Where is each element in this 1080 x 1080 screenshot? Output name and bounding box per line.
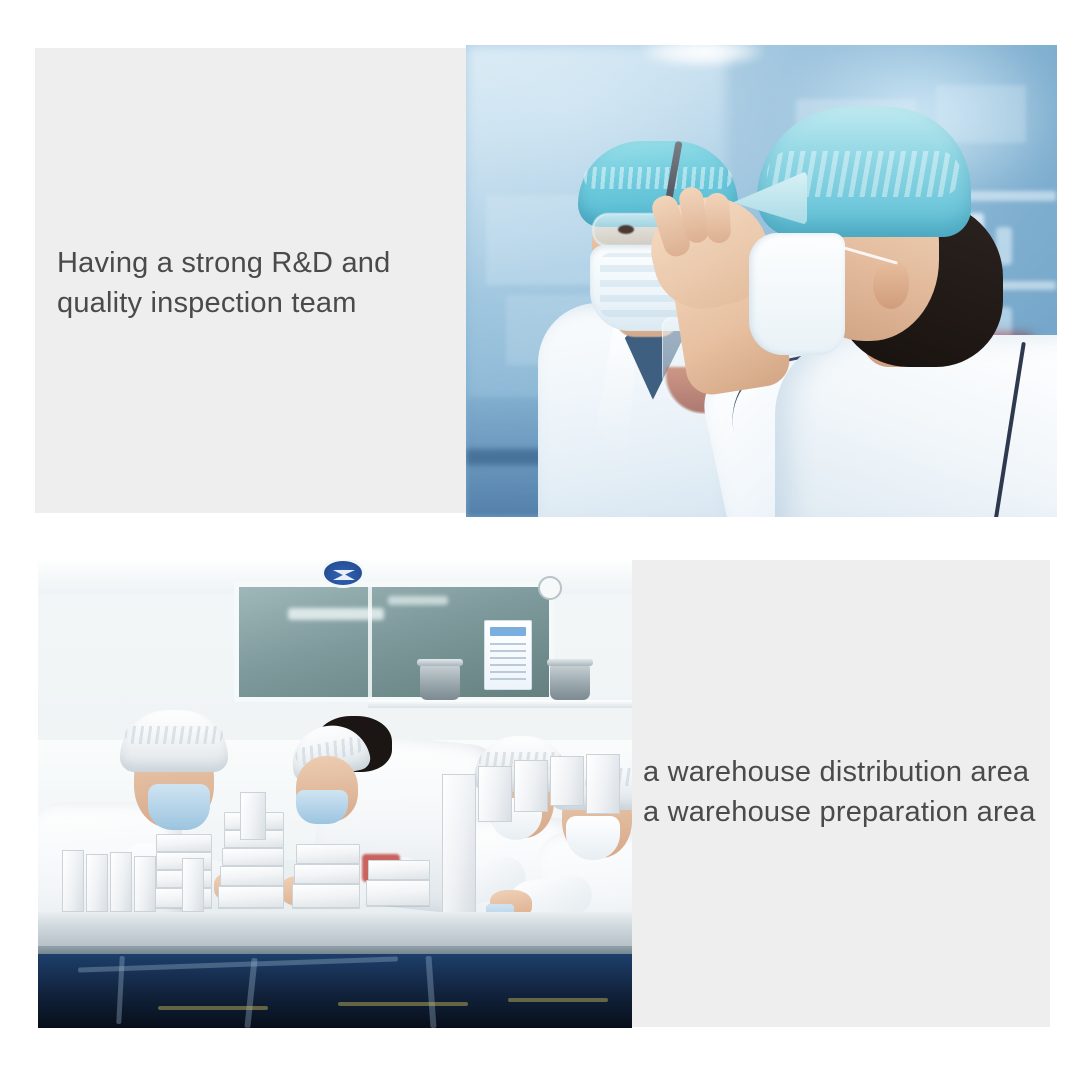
wall-clock-icon	[538, 576, 562, 600]
stainless-pot	[420, 664, 460, 700]
box-stack	[550, 756, 584, 806]
wall-notice-board	[484, 620, 532, 690]
cleanroom-shelf	[368, 700, 632, 708]
technician-b-face-mask	[749, 233, 845, 355]
upright-carton	[182, 858, 204, 912]
packed-box	[292, 884, 360, 908]
packed-box	[156, 834, 212, 852]
packing-worker-face-mask	[148, 784, 210, 830]
upright-carton	[240, 792, 266, 840]
warehouse-packing-photo	[38, 560, 632, 1028]
packed-box	[294, 864, 360, 884]
top-caption-line-2: quality inspection team	[57, 287, 357, 319]
upright-carton	[110, 852, 132, 912]
upright-carton	[86, 854, 108, 912]
packed-box	[218, 886, 284, 908]
upright-carton	[134, 856, 156, 912]
top-caption-line-1: Having a strong R&D and	[57, 247, 390, 279]
upright-carton	[62, 850, 84, 912]
floor-marking	[508, 998, 608, 1002]
box-stack	[478, 766, 512, 822]
ceiling-light	[643, 45, 763, 67]
top-caption: Having a strong R&D andquality inspectio…	[57, 243, 390, 323]
page-root: Having a strong R&D andquality inspectio…	[0, 0, 1080, 1080]
packing-worker-face-mask	[296, 790, 348, 824]
window-light-reflection	[388, 596, 448, 605]
floor-marking	[338, 1002, 468, 1006]
packed-box	[368, 860, 430, 880]
box-stack	[586, 754, 620, 814]
floor-marking	[158, 1006, 268, 1010]
packed-box	[222, 848, 284, 866]
window-mullion	[368, 586, 372, 698]
stainless-pot	[550, 664, 590, 700]
packed-box	[220, 866, 284, 886]
technician-b-ear	[873, 261, 909, 309]
stainless-steel-table	[38, 912, 632, 948]
bottom-caption-line-2: a warehouse preparation area	[643, 796, 1036, 828]
technician-a-eye	[618, 225, 634, 234]
bottom-caption: a warehouse distribution areaa warehouse…	[643, 752, 1036, 832]
finger	[704, 192, 731, 244]
packed-box	[296, 844, 360, 864]
bottom-caption-line-1: a warehouse distribution area	[643, 756, 1029, 788]
packed-box	[366, 880, 430, 906]
lab-inspection-photo	[466, 45, 1057, 517]
box-stack	[442, 774, 476, 914]
box-stack	[514, 760, 548, 812]
